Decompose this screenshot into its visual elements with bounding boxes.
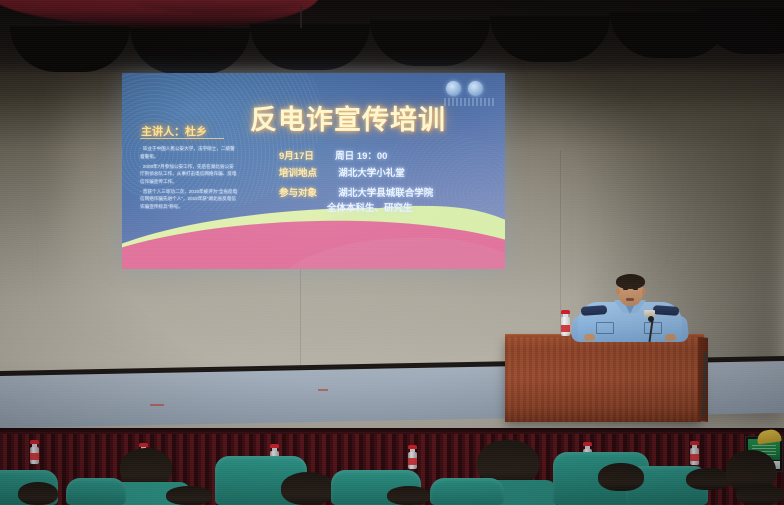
- university-logo-icon: [446, 81, 461, 96]
- slide-info-label: 9月17日: [279, 151, 314, 162]
- podium-wood-grain: [505, 337, 701, 422]
- curtain-rod: [300, 6, 302, 28]
- slide-host-underline: [140, 138, 224, 139]
- slide-info-row-date: 9月17日 周日 19：00: [279, 152, 387, 162]
- slide-host-label: 主讲人：杜乡: [141, 123, 207, 139]
- audience-head: [598, 463, 644, 491]
- auditorium-photo: 反电诈宣传培训 9月17日 周日 19：00 培训地点 湖北大学小礼堂 参与对象…: [0, 0, 784, 505]
- officer-ear-left: [616, 288, 620, 295]
- police-logo-icon: [468, 81, 483, 96]
- officer-ear-right: [642, 288, 646, 295]
- slide-info-label: 参与对象: [279, 188, 317, 199]
- slide-info-row-audience: 参与对象 湖北大学县城联合学院: [279, 189, 433, 199]
- logo-caption-text: [444, 98, 496, 106]
- floor-marking: [150, 404, 164, 406]
- bottle-label: [561, 325, 570, 332]
- slide-info-label: 培训地点: [279, 168, 317, 179]
- slide-info-value: 全体本科生、研究生: [327, 203, 413, 214]
- officer-brow-left: [622, 285, 628, 287]
- audience-head: [18, 482, 58, 505]
- officer-epaulette-left: [581, 305, 608, 316]
- audience-head: [281, 472, 335, 505]
- officer-hand-left: [584, 334, 595, 341]
- water-bottle: [561, 310, 570, 332]
- water-bottle: [408, 445, 417, 465]
- officer-eye-right: [633, 288, 638, 290]
- officer-eye-left: [623, 288, 628, 290]
- slide-info-row-location: 培训地点 湖北大学小礼堂: [279, 169, 405, 179]
- slide-logos: [446, 81, 494, 109]
- officer-brow-right: [632, 285, 638, 287]
- microphone-head-icon: [648, 316, 654, 322]
- bio-line: · 毕业于中国人民公安大学，法学硕士，二级警督警衔。: [140, 145, 238, 160]
- slide-title: 反电诈宣传培训: [250, 107, 446, 134]
- audience-head: [166, 486, 212, 505]
- audience-head: [387, 486, 431, 505]
- podium: [505, 337, 701, 422]
- officer-pocket-left: [596, 322, 614, 334]
- officer-hand-right: [665, 334, 676, 341]
- projection-screen: 反电诈宣传培训 9月17日 周日 19：00 培训地点 湖北大学小礼堂 参与对象…: [122, 73, 505, 269]
- officer-hair: [616, 274, 645, 289]
- slide-info-value: 湖北大学小礼堂: [338, 168, 405, 179]
- officer-mouth: [626, 298, 634, 301]
- floor-marking: [318, 389, 328, 391]
- water-bottle: [30, 440, 39, 460]
- officer-epaulette-right: [653, 305, 680, 316]
- slide-info-value: 湖北大学县城联合学院: [338, 188, 433, 199]
- speaker-police-officer: [578, 276, 682, 340]
- audience-seat: [430, 478, 504, 505]
- slide-host-bio: · 毕业于中国人民公安大学，法学硕士，二级警督警衔。 · 2008年7月参加公安…: [140, 145, 238, 213]
- slide-info-value: 周日 19：00: [335, 151, 387, 162]
- audience-seat: [66, 478, 126, 505]
- audience-head: [686, 468, 730, 490]
- water-bottle: [690, 441, 699, 461]
- slide-info-row-audience-2: 全体本科生、研究生: [327, 204, 413, 214]
- curtain-top-edge: [0, 428, 784, 434]
- bio-line: · 曾获个人三等功二次，2019年被评为“全省反电信网络诈骗先进个人”，2018…: [140, 188, 238, 211]
- audience-head: [736, 484, 784, 505]
- bio-line: · 2008年7月参加公安工作，先后在湖北省公安厅刑侦总队工作，从事打击电信网络…: [140, 163, 238, 186]
